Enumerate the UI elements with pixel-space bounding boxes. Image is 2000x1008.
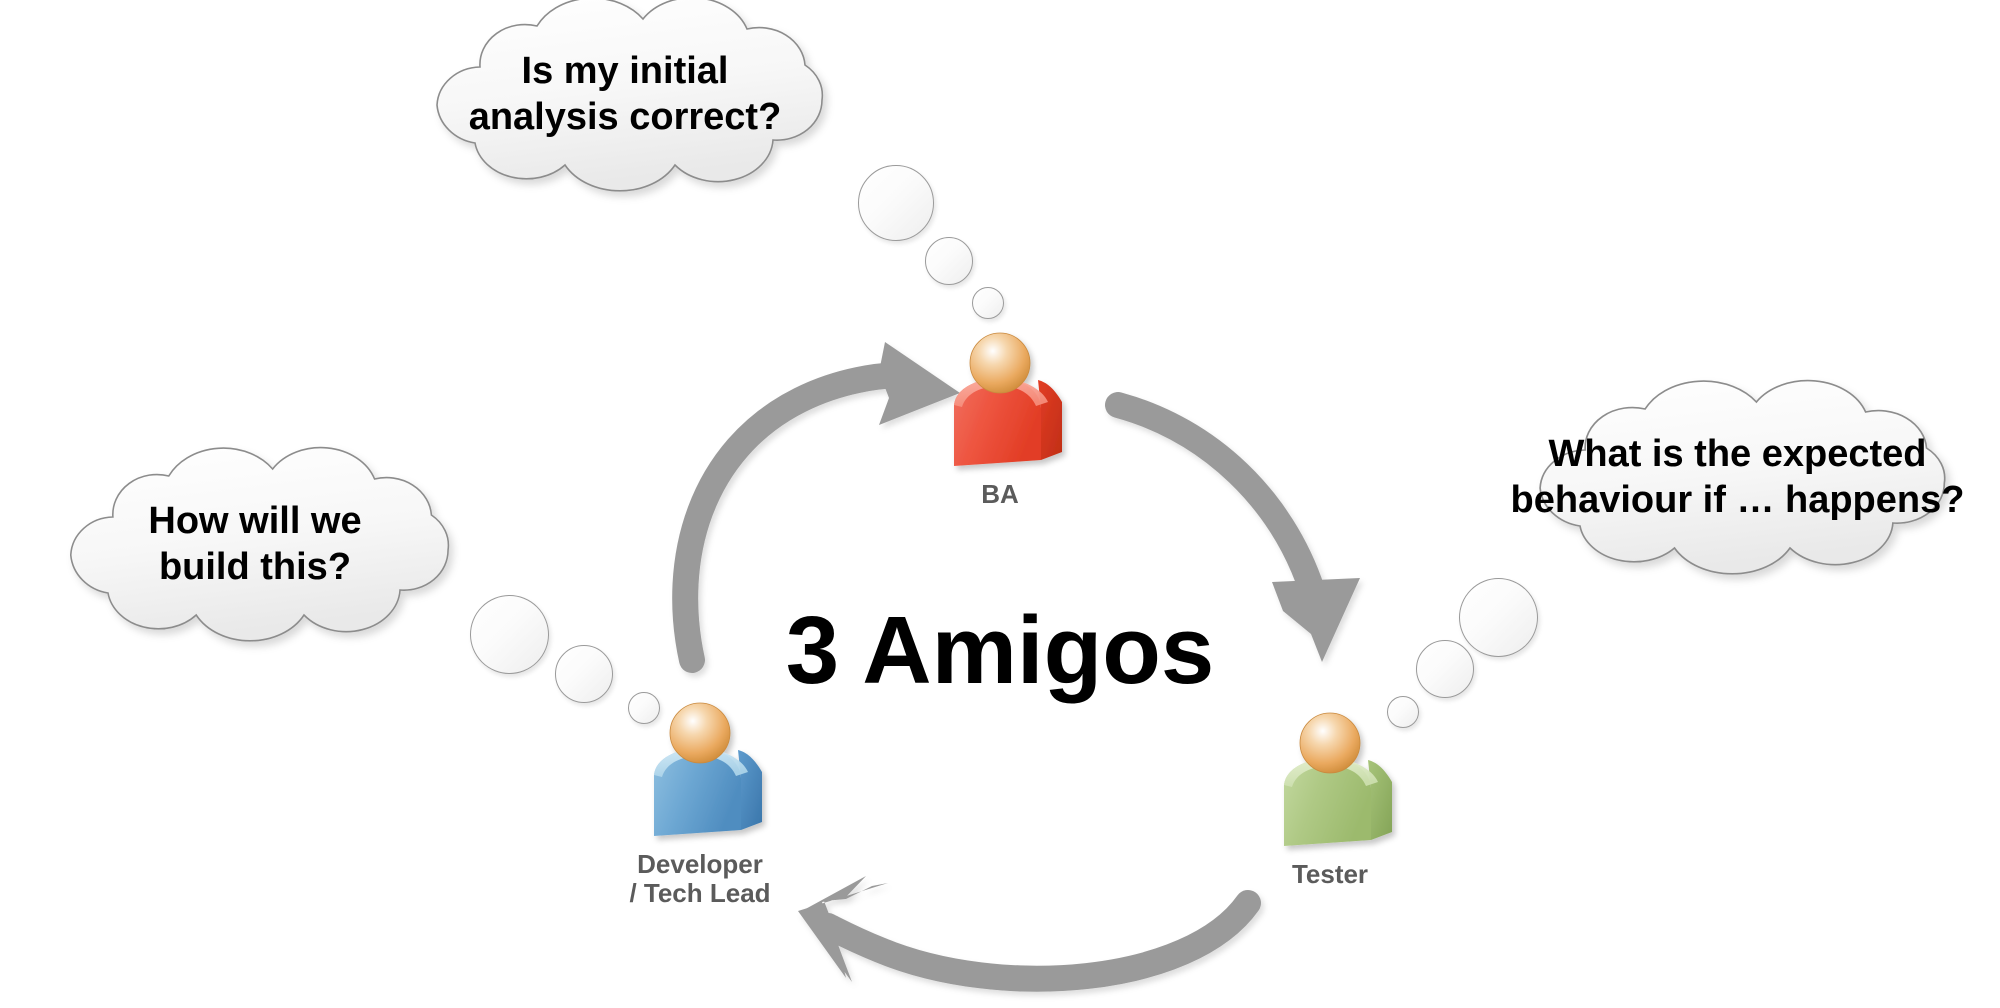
thought-bubble	[470, 595, 549, 674]
page-title: 3 Amigos	[786, 596, 1215, 706]
person-developer-label: Developer / Tech Lead	[629, 850, 770, 908]
thought-bubble	[555, 645, 613, 703]
thought-cloud-developer: How will we build this?	[10, 455, 500, 635]
ba-avatar	[954, 333, 1062, 466]
thought-bubble	[972, 287, 1004, 319]
three-amigos-diagram: 3 Amigos Is my initial analysis correct?	[0, 0, 2000, 1008]
thought-cloud-ba: Is my initial analysis correct?	[375, 5, 875, 185]
thought-bubble	[1416, 640, 1474, 698]
arrow-tester-to-developer	[798, 876, 1248, 982]
person-developer-label-line2: / Tech Lead	[629, 879, 770, 908]
thought-cloud-tester: What is the expected behaviour if … happ…	[1475, 388, 2000, 568]
person-tester-label: Tester	[1292, 860, 1368, 889]
thought-bubble	[1459, 578, 1538, 657]
thought-bubble	[858, 165, 934, 241]
person-developer-label-line1: Developer	[629, 850, 770, 879]
thought-bubble	[925, 237, 973, 285]
developer-avatar	[654, 703, 762, 836]
person-tester-label-line1: Tester	[1292, 860, 1368, 889]
tester-avatar	[1284, 713, 1392, 846]
person-ba-label: BA	[981, 480, 1019, 509]
person-ba-label-line1: BA	[981, 480, 1019, 509]
